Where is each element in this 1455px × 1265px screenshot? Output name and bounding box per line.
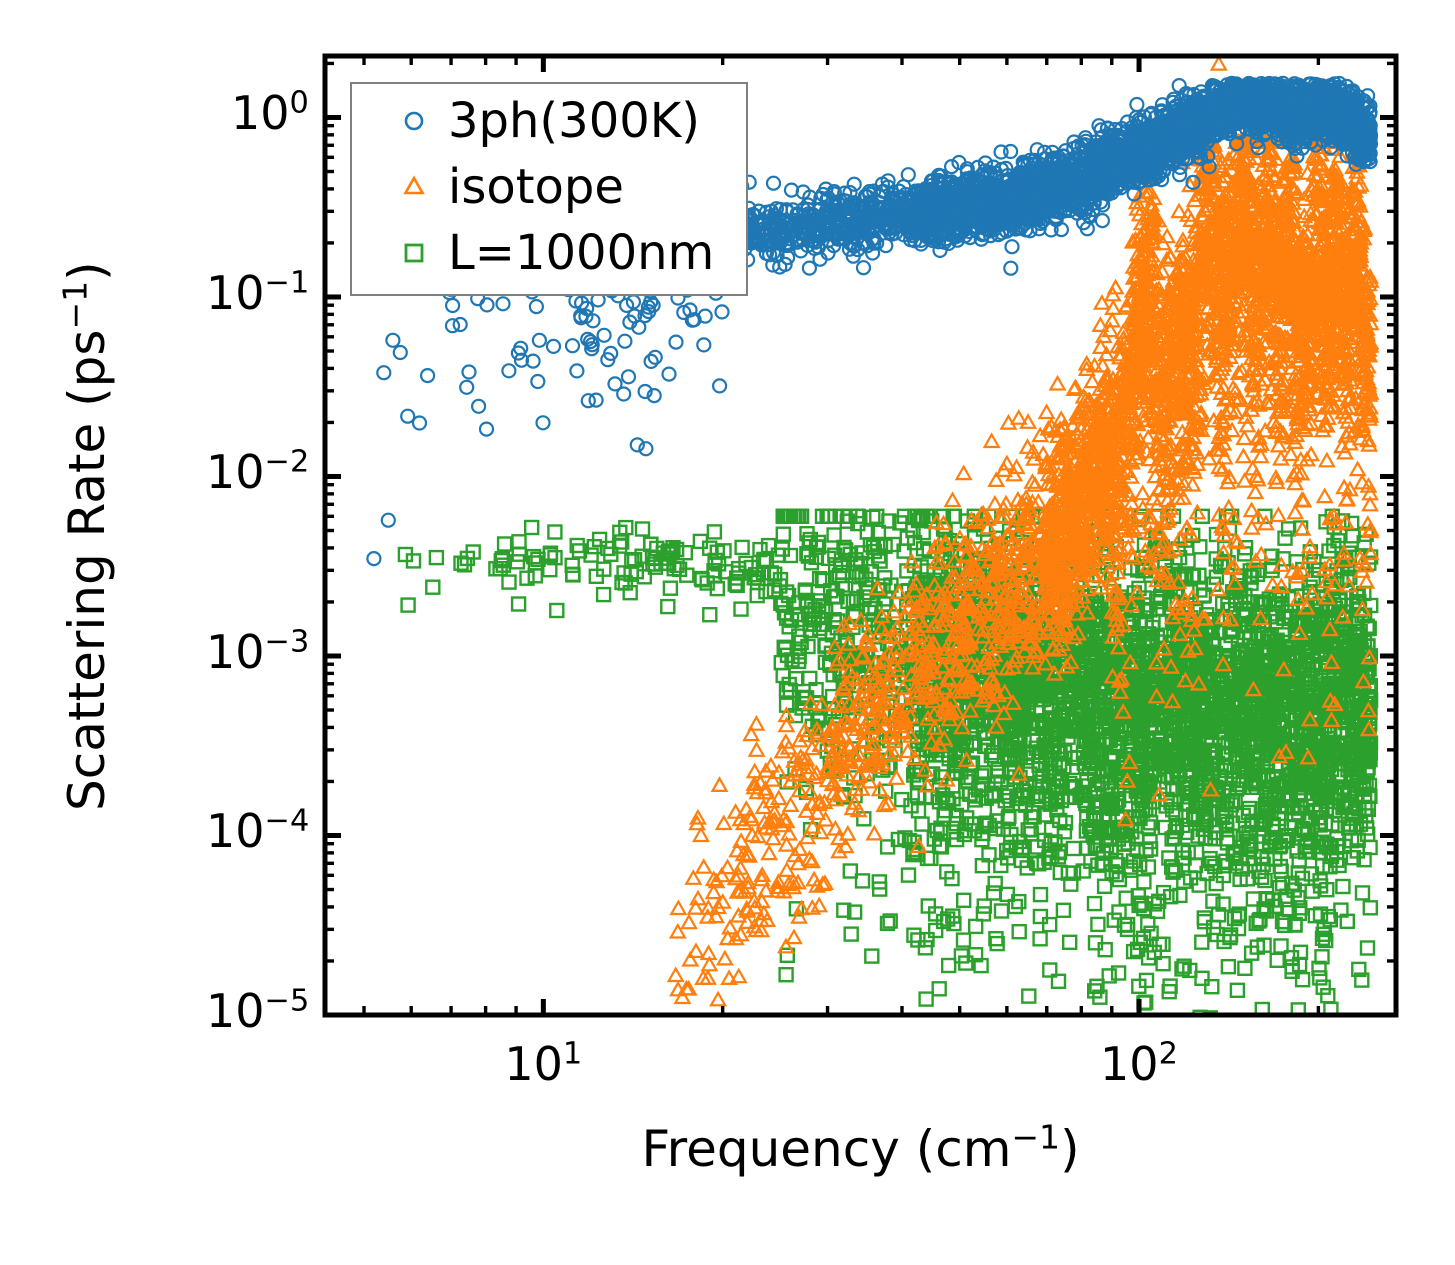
legend-item-3ph[interactable]: 3ph(300K): [352, 90, 746, 152]
legend-marker-triangle-icon: [382, 156, 446, 218]
legend-marker-circle-icon: [382, 90, 446, 152]
x-axis-label: Frequency (cm−1): [642, 1120, 1080, 1178]
legend-label-boundary: L=1000nm: [448, 222, 714, 284]
y-tick-label-2: 10−2: [206, 445, 309, 499]
y-tick-label-5: 10−5: [206, 984, 309, 1038]
plot-legend: 3ph(300K) isotope L=1000nm: [350, 82, 748, 296]
x-tick-label-1: 102: [1100, 1037, 1178, 1091]
x-tick-label-0: 101: [504, 1037, 582, 1091]
legend-item-isotope[interactable]: isotope: [352, 156, 746, 218]
legend-label-3ph: 3ph(300K): [448, 90, 700, 152]
y-tick-label-3: 10−3: [206, 625, 309, 679]
legend-label-isotope: isotope: [448, 156, 624, 218]
y-axis-label: Scattering Rate (ps−1): [58, 261, 116, 811]
legend-item-boundary[interactable]: L=1000nm: [352, 222, 746, 284]
y-tick-label-1: 10−1: [206, 266, 309, 320]
y-tick-label-4: 10−4: [206, 804, 309, 858]
figure-canvas: 3ph(300K) isotope L=1000nm Frequency (cm…: [0, 0, 1455, 1265]
y-tick-label-0: 100: [231, 86, 309, 140]
legend-marker-square-icon: [382, 222, 446, 284]
